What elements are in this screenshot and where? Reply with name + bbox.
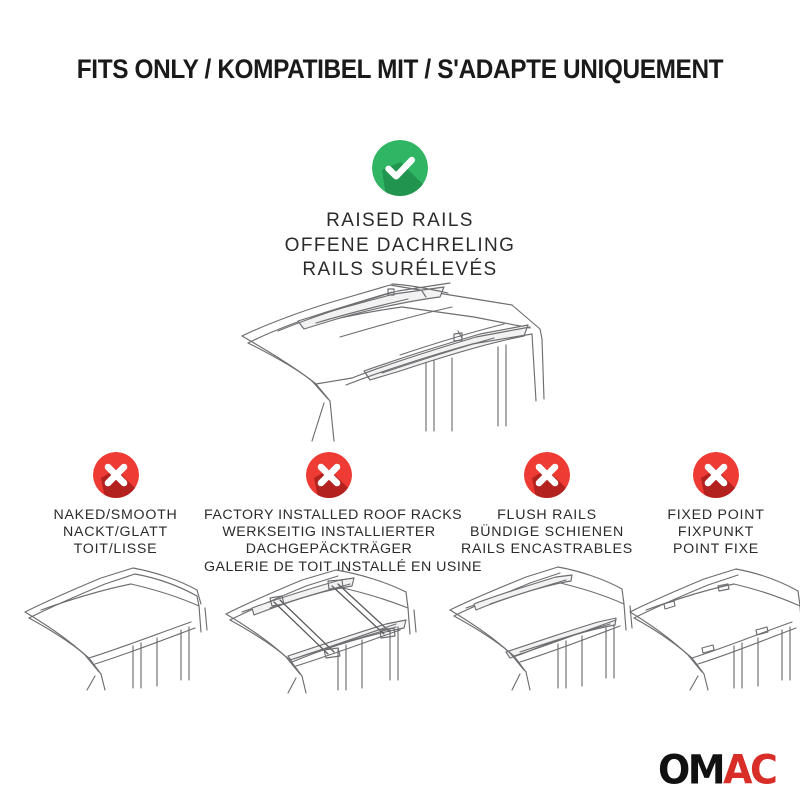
logo-text-ac: AC	[723, 747, 775, 793]
label-line-1: FIXED POINT	[636, 507, 796, 524]
car-roof-naked-smooth-illustration	[15, 560, 215, 695]
incompatible-labels-naked-smooth: NAKED/SMOOTH NACKT/GLATT TOIT/LISSE	[23, 507, 208, 559]
car-roof-factory-racks-illustration	[214, 558, 444, 698]
cross-circle-icon	[306, 452, 352, 498]
label-line-1: FACTORY INSTALLED ROOF RACKS	[204, 507, 454, 524]
incompatible-item-flush-rails: FLUSH RAILS BÜNDIGE SCHIENEN RAILS ENCAS…	[452, 452, 642, 559]
label-line-3: TOIT/LISSE	[23, 541, 208, 558]
label-line-3: DACHGEPÄCKTRÄGER	[204, 541, 454, 558]
incompatible-labels-fixed-point: FIXED POINT FIXPUNKT POINT FIXE	[636, 507, 796, 559]
incompatible-sections: NAKED/SMOOTH NACKT/GLATT TOIT/LISSE	[0, 452, 800, 692]
label-line-2: NACKT/GLATT	[23, 524, 208, 541]
incompatible-item-factory-racks: FACTORY INSTALLED ROOF RACKS WERKSEITIG …	[204, 452, 454, 576]
compatible-section: RAISED RAILS OFFENE DACHRELING RAILS SUR…	[0, 140, 800, 283]
incompatible-labels-flush-rails: FLUSH RAILS BÜNDIGE SCHIENEN RAILS ENCAS…	[452, 507, 642, 559]
omac-logo: OMAC	[658, 750, 775, 790]
label-line-3: POINT FIXE	[636, 541, 796, 558]
label-line-2: WERKSEITIG INSTALLIERTER	[204, 524, 454, 541]
incompatible-item-fixed-point: FIXED POINT FIXPUNKT POINT FIXE	[636, 452, 796, 559]
cross-circle-icon	[693, 452, 739, 498]
page-title: FITS ONLY / KOMPATIBEL MIT / S'ADAPTE UN…	[32, 54, 768, 85]
cross-circle-icon	[93, 452, 139, 498]
car-roof-flush-rails-illustration	[440, 560, 645, 695]
compatible-labels: RAISED RAILS OFFENE DACHRELING RAILS SUR…	[0, 209, 800, 283]
label-line-1: FLUSH RAILS	[452, 507, 642, 524]
car-roof-fixed-point-illustration	[618, 560, 800, 695]
label-line-3: RAILS ENCASTRABLES	[452, 541, 642, 558]
compatible-label-en: RAISED RAILS	[0, 209, 800, 234]
compatible-label-de: OFFENE DACHRELING	[0, 234, 800, 259]
label-line-1: NAKED/SMOOTH	[23, 507, 208, 524]
logo-text-om: OM	[658, 747, 723, 793]
incompatible-item-naked-smooth: NAKED/SMOOTH NACKT/GLATT TOIT/LISSE	[23, 452, 208, 559]
check-circle-icon	[372, 140, 428, 196]
compatible-label-fr: RAILS SURÉLEVÉS	[0, 258, 800, 283]
label-line-2: FIXPUNKT	[636, 524, 796, 541]
cross-circle-icon	[524, 452, 570, 498]
label-line-2: BÜNDIGE SCHIENEN	[452, 524, 642, 541]
car-roof-raised-rails-illustration	[212, 281, 592, 446]
